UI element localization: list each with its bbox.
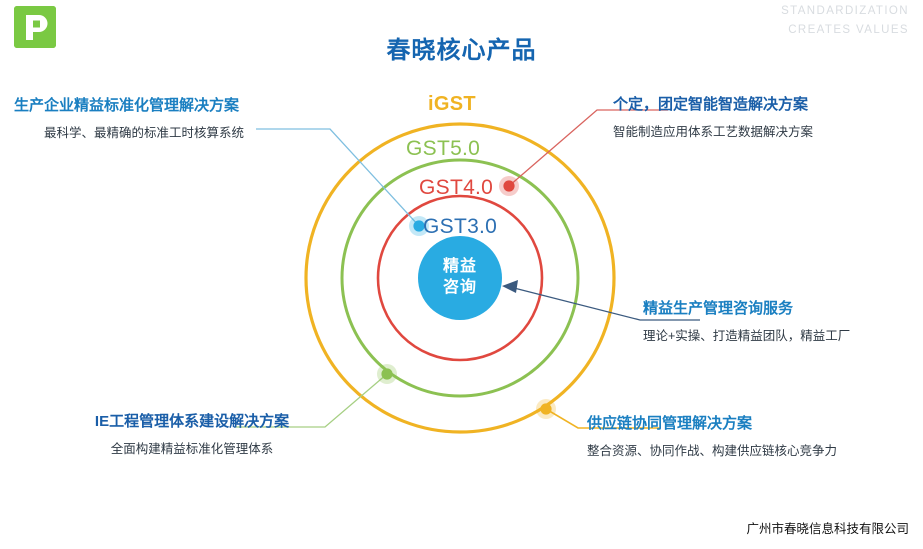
callout-middle-right-title: 精益生产管理咨询服务: [643, 297, 850, 318]
callout-top-left-subtitle: 最科学、最精确的标准工时核算系统: [44, 122, 244, 141]
slide-canvas: STANDARDIZATION CREATES VALUES 春晓核心产品: [0, 0, 923, 549]
connector-top-left: [256, 129, 419, 226]
footer-company: 广州市春晓信息科技有限公司: [746, 518, 909, 537]
ring-label-gst5: GST5.0: [406, 137, 480, 161]
callout-middle-right: 精益生产管理咨询服务 理论+实操、打造精益团队，精益工厂: [643, 297, 850, 344]
node-dot-gst5: [381, 368, 392, 379]
callout-bottom-left-title: IE工程管理体系建设解决方案: [67, 410, 317, 431]
callout-bottom-right-subtitle: 整合资源、协同作战、构建供应链核心竞争力: [587, 440, 837, 459]
callout-top-left: 生产企业精益标准化管理解决方案 最科学、最精确的标准工时核算系统: [14, 94, 244, 141]
callout-top-right: 个定，团定智能智造解决方案 智能制造应用体系工艺数据解决方案: [613, 93, 813, 140]
callout-bottom-left: IE工程管理体系建设解决方案 全面构建精益标准化管理体系: [67, 410, 317, 457]
callout-top-left-title: 生产企业精益标准化管理解决方案: [14, 94, 244, 115]
node-dot-gst4: [503, 180, 514, 191]
node-dot-igst: [540, 403, 551, 414]
ring-label-igst: iGST: [428, 93, 476, 116]
callout-top-right-title: 个定，团定智能智造解决方案: [613, 93, 813, 114]
core-label-line-1: 精益: [424, 256, 496, 277]
core-label: 精益 咨询: [424, 256, 496, 298]
callout-bottom-right: 供应链协同管理解决方案 整合资源、协同作战、构建供应链核心竞争力: [587, 412, 837, 459]
callout-bottom-right-title: 供应链协同管理解决方案: [587, 412, 837, 433]
ring-label-gst3: GST3.0: [423, 215, 497, 239]
callout-bottom-left-subtitle: 全面构建精益标准化管理体系: [67, 438, 317, 457]
core-label-line-2: 咨询: [424, 277, 496, 298]
callout-middle-right-subtitle: 理论+实操、打造精益团队，精益工厂: [643, 325, 850, 344]
callout-top-right-subtitle: 智能制造应用体系工艺数据解决方案: [613, 121, 813, 140]
arrowhead-middle-right: [502, 280, 518, 293]
ring-label-gst4: GST4.0: [419, 176, 493, 200]
